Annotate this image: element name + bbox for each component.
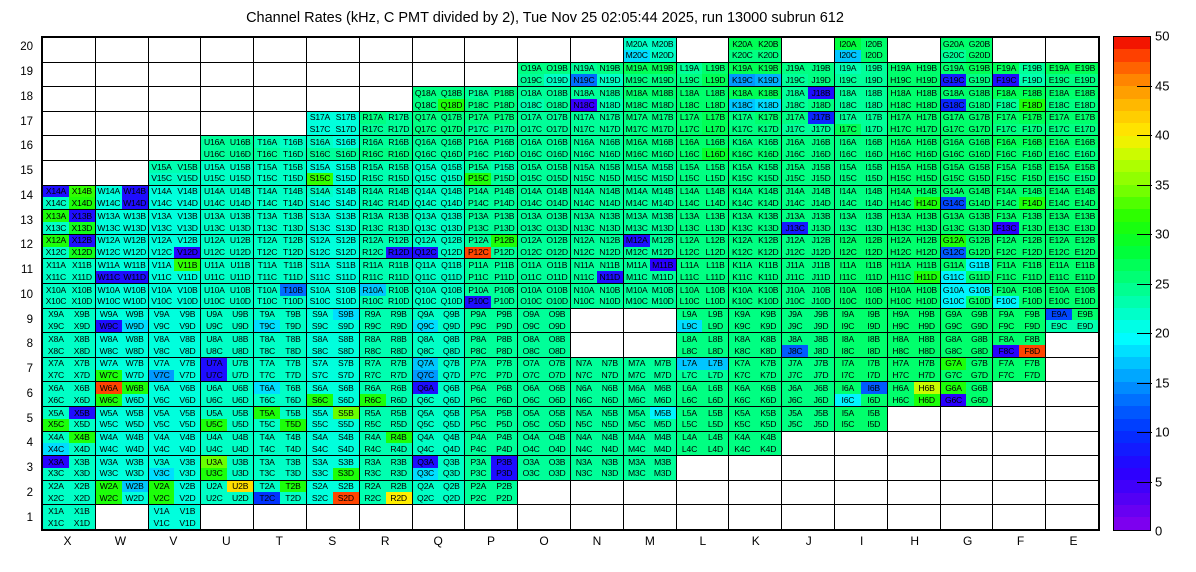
channel-Q7B[interactable]: Q7B [438, 358, 464, 370]
channel-O11B[interactable]: O11B [544, 259, 570, 271]
channel-J7A[interactable]: J7A [782, 358, 808, 370]
channel-J13C[interactable]: J13C [782, 222, 808, 234]
channel-S4D[interactable]: S4D [333, 443, 359, 455]
channel-I10A[interactable]: I10A [835, 284, 861, 296]
channel-W5B[interactable]: W5B [122, 407, 148, 419]
channel-S11C[interactable]: S11C [307, 271, 333, 283]
channel-E9C[interactable]: E9C [1046, 320, 1072, 332]
channel-Q9B[interactable]: Q9B [438, 309, 464, 321]
cell-T4[interactable]: T4AT4BT4CT4D [254, 431, 307, 456]
channel-G6A[interactable]: G6A [941, 382, 967, 394]
cell-U3[interactable]: U3AU3BU3CU3D [201, 456, 254, 481]
channel-P5B[interactable]: P5B [491, 407, 517, 419]
channel-L9B[interactable]: L9B [702, 309, 728, 321]
channel-U10B[interactable]: U10B [227, 284, 253, 296]
channel-T16D[interactable]: T16D [280, 148, 306, 160]
channel-P7A[interactable]: P7A [465, 358, 491, 370]
channel-M6B[interactable]: M6B [650, 382, 676, 394]
channel-N19C[interactable]: N19C [571, 74, 597, 86]
cell-K20[interactable]: K20AK20BK20CK20D [729, 38, 782, 63]
cell-F7[interactable]: F7AF7BF7CF7D [993, 357, 1046, 382]
channel-Q17D[interactable]: Q17D [438, 124, 464, 136]
channel-J10B[interactable]: J10B [808, 284, 834, 296]
channel-S8D[interactable]: S8D [333, 345, 359, 357]
channel-T9D[interactable]: T9D [280, 320, 306, 332]
channel-M4A[interactable]: M4A [624, 432, 650, 444]
channel-G19C[interactable]: G19C [941, 74, 967, 86]
channel-N18C[interactable]: N18C [571, 99, 597, 111]
cell-K10[interactable]: K10AK10BK10CK10D [729, 283, 782, 308]
channel-E17B[interactable]: E17B [1072, 112, 1098, 124]
cell-P18[interactable]: P18AP18BP18CP18D [465, 87, 518, 112]
channel-G9B[interactable]: G9B [966, 309, 992, 321]
channel-L13C[interactable]: L13C [677, 222, 703, 234]
channel-P6D[interactable]: P6D [491, 394, 517, 406]
channel-T6D[interactable]: T6D [280, 394, 306, 406]
channel-P16D[interactable]: P16D [491, 148, 517, 160]
channel-O7B[interactable]: O7B [544, 358, 570, 370]
cell-L16[interactable]: L16AL16BL16CL16D [676, 136, 729, 161]
channel-O18C[interactable]: O18C [518, 99, 544, 111]
cell-W14[interactable]: W14AW14BW14CW14D [95, 185, 148, 210]
channel-J18D[interactable]: J18D [808, 99, 834, 111]
channel-P11A[interactable]: P11A [465, 259, 491, 271]
channel-O6B[interactable]: O6B [544, 382, 570, 394]
channel-P2A[interactable]: P2A [465, 481, 491, 493]
channel-V6C[interactable]: V6C [149, 394, 175, 406]
cell-T8[interactable]: T8AT8BT8CT8D [254, 333, 307, 358]
channel-H9C[interactable]: H9C [888, 320, 914, 332]
channel-S7A[interactable]: S7A [307, 358, 333, 370]
channel-M5D[interactable]: M5D [650, 419, 676, 431]
channel-I20D[interactable]: I20D [861, 50, 887, 62]
channel-K5B[interactable]: K5B [755, 407, 781, 419]
channel-L19D[interactable]: L19D [702, 74, 728, 86]
channel-X6C[interactable]: X6C [43, 394, 69, 406]
cell-I20[interactable]: I20AI20BI20CI20D [834, 38, 887, 63]
channel-U11B[interactable]: U11B [227, 259, 253, 271]
channel-U6D[interactable]: U6D [227, 394, 253, 406]
cell-G17[interactable]: G17AG17BG17CG17D [940, 111, 993, 136]
channel-S2B[interactable]: S2B [333, 481, 359, 493]
channel-F17B[interactable]: F17B [1019, 112, 1045, 124]
channel-N5A[interactable]: N5A [571, 407, 597, 419]
channel-N7C[interactable]: N7C [571, 370, 597, 382]
cell-L10[interactable]: L10AL10BL10CL10D [676, 283, 729, 308]
channel-R10C[interactable]: R10C [360, 296, 386, 308]
channel-J18A[interactable]: J18A [782, 87, 808, 99]
cell-S14[interactable]: S14AS14BS14CS14D [306, 185, 359, 210]
channel-V11A[interactable]: V11A [149, 259, 175, 271]
channel-X5B[interactable]: X5B [69, 407, 95, 419]
cell-J16[interactable]: J16AJ16BJ16CJ16D [782, 136, 835, 161]
channel-J10D[interactable]: J10D [808, 296, 834, 308]
channel-E9A[interactable]: E9A [1046, 309, 1072, 321]
channel-L11B[interactable]: L11B [702, 259, 728, 271]
cell-V3[interactable]: V3AV3BV3CV3D [148, 456, 201, 481]
channel-X8C[interactable]: X8C [43, 345, 69, 357]
channel-L5C[interactable]: L5C [677, 419, 703, 431]
channel-V13D[interactable]: V13D [174, 222, 200, 234]
channel-W13A[interactable]: W13A [96, 210, 122, 222]
channel-T5D[interactable]: T5D [280, 419, 306, 431]
channel-X4B[interactable]: X4B [69, 432, 95, 444]
channel-X11C[interactable]: X11C [43, 271, 69, 283]
channel-N15A[interactable]: N15A [571, 161, 597, 173]
channel-Q14D[interactable]: Q14D [438, 197, 464, 209]
channel-F19D[interactable]: F19D [1019, 74, 1045, 86]
channel-F14A[interactable]: F14A [993, 186, 1019, 198]
cell-H19[interactable]: H19AH19BH19CH19D [887, 62, 940, 87]
channel-T11C[interactable]: T11C [254, 271, 280, 283]
channel-X12B[interactable]: X12B [69, 235, 95, 247]
channel-I12B[interactable]: I12B [861, 235, 887, 247]
channel-U16D[interactable]: U16D [227, 148, 253, 160]
channel-H15A[interactable]: H15A [888, 161, 914, 173]
channel-M6A[interactable]: M6A [624, 382, 650, 394]
channel-R13C[interactable]: R13C [360, 222, 386, 234]
channel-W14C[interactable]: W14C [96, 197, 122, 209]
channel-Q7C[interactable]: Q7C [413, 370, 439, 382]
channel-F8B[interactable]: F8B [1019, 333, 1045, 345]
channel-J17C[interactable]: J17C [782, 124, 808, 136]
channel-O9B[interactable]: O9B [544, 309, 570, 321]
channel-K13D[interactable]: K13D [755, 222, 781, 234]
channel-V6A[interactable]: V6A [149, 382, 175, 394]
channel-P12A[interactable]: P12A [465, 235, 491, 247]
channel-H12C[interactable]: H12C [888, 247, 914, 259]
channel-P6C[interactable]: P6C [465, 394, 491, 406]
channel-F15B[interactable]: F15B [1019, 161, 1045, 173]
channel-E18B[interactable]: E18B [1072, 87, 1098, 99]
channel-H19D[interactable]: H19D [914, 74, 940, 86]
channel-I6B[interactable]: I6B [861, 382, 887, 394]
channel-J14D[interactable]: J14D [808, 197, 834, 209]
channel-V4C[interactable]: V4C [149, 443, 175, 455]
channel-T13C[interactable]: T13C [254, 222, 280, 234]
cell-Q2[interactable]: Q2AQ2BQ2CQ2D [412, 480, 465, 505]
channel-K10A[interactable]: K10A [729, 284, 755, 296]
channel-R12D[interactable]: R12D [386, 247, 412, 259]
channel-M18A[interactable]: M18A [624, 87, 650, 99]
channel-R7D[interactable]: R7D [386, 370, 412, 382]
channel-T10D[interactable]: T10D [280, 296, 306, 308]
channel-G9A[interactable]: G9A [941, 309, 967, 321]
channel-U4B[interactable]: U4B [227, 432, 253, 444]
channel-R12C[interactable]: R12C [360, 247, 386, 259]
cell-V10[interactable]: V10AV10BV10CV10D [148, 283, 201, 308]
channel-J17D[interactable]: J17D [808, 124, 834, 136]
channel-P2B[interactable]: P2B [491, 481, 517, 493]
channel-U8A[interactable]: U8A [201, 333, 227, 345]
channel-K11D[interactable]: K11D [755, 271, 781, 283]
channel-I19A[interactable]: I19A [835, 63, 861, 75]
channel-V8D[interactable]: V8D [174, 345, 200, 357]
channel-V6B[interactable]: V6B [174, 382, 200, 394]
channel-O15D[interactable]: O15D [544, 173, 570, 185]
channel-N13B[interactable]: N13B [597, 210, 623, 222]
channel-V13C[interactable]: V13C [149, 222, 175, 234]
channel-J8D[interactable]: J8D [808, 345, 834, 357]
channel-S8B[interactable]: S8B [333, 333, 359, 345]
cell-N6[interactable]: N6AN6BN6CN6D [570, 382, 623, 407]
channel-S13D[interactable]: S13D [333, 222, 359, 234]
channel-P5C[interactable]: P5C [465, 419, 491, 431]
channel-F9A[interactable]: F9A [993, 309, 1019, 321]
channel-V5D[interactable]: V5D [174, 419, 200, 431]
channel-H13D[interactable]: H13D [914, 222, 940, 234]
channel-I18C[interactable]: I18C [835, 99, 861, 111]
channel-F15A[interactable]: F15A [993, 161, 1019, 173]
cell-W5[interactable]: W5AW5BW5CW5D [95, 406, 148, 431]
cell-W13[interactable]: W13AW13BW13CW13D [95, 210, 148, 235]
channel-S16A[interactable]: S16A [307, 136, 333, 148]
channel-Q6B[interactable]: Q6B [438, 382, 464, 394]
cell-V4[interactable]: V4AV4BV4CV4D [148, 431, 201, 456]
cell-H9[interactable]: H9AH9BH9CH9D [887, 308, 940, 333]
channel-E17C[interactable]: E17C [1046, 124, 1072, 136]
cell-F11[interactable]: F11AF11BF11CF11D [993, 259, 1046, 284]
channel-F8D[interactable]: F8D [1019, 345, 1045, 357]
channel-L4D[interactable]: L4D [702, 443, 728, 455]
channel-W6A[interactable]: W6A [96, 382, 122, 394]
cell-W10[interactable]: W10AW10BW10CW10D [95, 283, 148, 308]
channel-K9D[interactable]: K9D [755, 320, 781, 332]
channel-U9A[interactable]: U9A [201, 309, 227, 321]
channel-G14B[interactable]: G14B [966, 186, 992, 198]
channel-E17D[interactable]: E17D [1072, 124, 1098, 136]
cell-H17[interactable]: H17AH17BH17CH17D [887, 111, 940, 136]
channel-Q10D[interactable]: Q10D [438, 296, 464, 308]
channel-F8C[interactable]: F8C [993, 345, 1019, 357]
cell-R16[interactable]: R16AR16BR16CR16D [359, 136, 412, 161]
channel-X6D[interactable]: X6D [69, 394, 95, 406]
channel-M19B[interactable]: M19B [650, 63, 676, 75]
cell-M16[interactable]: M16AM16BM16CM16D [623, 136, 676, 161]
cell-R10[interactable]: R10AR10BR10CR10D [359, 283, 412, 308]
channel-I13D[interactable]: I13D [861, 222, 887, 234]
channel-O17D[interactable]: O17D [544, 124, 570, 136]
channel-O12C[interactable]: O12C [518, 247, 544, 259]
channel-R4D[interactable]: R4D [386, 443, 412, 455]
channel-R17A[interactable]: R17A [360, 112, 386, 124]
channel-T3A[interactable]: T3A [254, 456, 280, 468]
channel-O17B[interactable]: O17B [544, 112, 570, 124]
channel-H10D[interactable]: H10D [914, 296, 940, 308]
cell-M11[interactable]: M11AM11BM11CM11D [623, 259, 676, 284]
channel-V10A[interactable]: V10A [149, 284, 175, 296]
cell-E12[interactable]: E12AE12BE12CE12D [1046, 234, 1099, 259]
channel-O19C[interactable]: O19C [518, 74, 544, 86]
channel-W8A[interactable]: W8A [96, 333, 122, 345]
channel-R7C[interactable]: R7C [360, 370, 386, 382]
channel-X14D[interactable]: X14D [69, 197, 95, 209]
channel-U6B[interactable]: U6B [227, 382, 253, 394]
channel-H16A[interactable]: H16A [888, 136, 914, 148]
channel-G13A[interactable]: G13A [941, 210, 967, 222]
channel-O4C[interactable]: O4C [518, 443, 544, 455]
channel-W3C[interactable]: W3C [96, 468, 122, 480]
cell-O13[interactable]: O13AO13BO13CO13D [518, 210, 571, 235]
channel-I14A[interactable]: I14A [835, 186, 861, 198]
channel-Q3A[interactable]: Q3A [413, 456, 439, 468]
cell-S4[interactable]: S4AS4BS4CS4D [306, 431, 359, 456]
channel-S5C[interactable]: S5C [307, 419, 333, 431]
channel-J7C[interactable]: J7C [782, 370, 808, 382]
channel-O8A[interactable]: O8A [518, 333, 544, 345]
channel-G14C[interactable]: G14C [941, 197, 967, 209]
channel-Q3D[interactable]: Q3D [438, 468, 464, 480]
channel-W9C[interactable]: W9C [96, 320, 122, 332]
cell-L12[interactable]: L12AL12BL12CL12D [676, 234, 729, 259]
channel-W9D[interactable]: W9D [122, 320, 148, 332]
channel-E14A[interactable]: E14A [1046, 186, 1072, 198]
channel-Q9D[interactable]: Q9D [438, 320, 464, 332]
channel-Q9C[interactable]: Q9C [413, 320, 439, 332]
channel-P4B[interactable]: P4B [491, 432, 517, 444]
channel-U7C[interactable]: U7C [201, 370, 227, 382]
channel-M6C[interactable]: M6C [624, 394, 650, 406]
channel-S17D[interactable]: S17D [333, 124, 359, 136]
channel-F14C[interactable]: F14C [993, 197, 1019, 209]
channel-W6D[interactable]: W6D [122, 394, 148, 406]
channel-K16B[interactable]: K16B [755, 136, 781, 148]
channel-V8B[interactable]: V8B [174, 333, 200, 345]
channel-J8C[interactable]: J8C [782, 345, 808, 357]
channel-K20B[interactable]: K20B [755, 38, 781, 50]
channel-O12A[interactable]: O12A [518, 235, 544, 247]
channel-J6A[interactable]: J6A [782, 382, 808, 394]
channel-G18A[interactable]: G18A [941, 87, 967, 99]
cell-F13[interactable]: F13AF13BF13CF13D [993, 210, 1046, 235]
channel-M7A[interactable]: M7A [624, 358, 650, 370]
channel-F16A[interactable]: F16A [993, 136, 1019, 148]
channel-U8B[interactable]: U8B [227, 333, 253, 345]
channel-S2C[interactable]: S2C [307, 492, 333, 504]
cell-V12[interactable]: V12AV12BV12CV12D [148, 234, 201, 259]
channel-G10A[interactable]: G10A [941, 284, 967, 296]
channel-I5B[interactable]: I5B [861, 407, 887, 419]
channel-N16A[interactable]: N16A [571, 136, 597, 148]
channel-O5C[interactable]: O5C [518, 419, 544, 431]
channel-I6D[interactable]: I6D [861, 394, 887, 406]
channel-I8D[interactable]: I8D [861, 345, 887, 357]
channel-T12D[interactable]: T12D [280, 247, 306, 259]
cell-P17[interactable]: P17AP17BP17CP17D [465, 111, 518, 136]
cell-K19[interactable]: K19AK19BK19CK19D [729, 62, 782, 87]
cell-M15[interactable]: M15AM15BM15CM15D [623, 160, 676, 185]
channel-E10C[interactable]: E10C [1046, 296, 1072, 308]
channel-Q12B[interactable]: Q12B [438, 235, 464, 247]
channel-G19D[interactable]: G19D [966, 74, 992, 86]
channel-F16D[interactable]: F16D [1019, 148, 1045, 160]
channel-E12B[interactable]: E12B [1072, 235, 1098, 247]
cell-S5[interactable]: S5AS5BS5CS5D [306, 406, 359, 431]
cell-M6[interactable]: M6AM6BM6CM6D [623, 382, 676, 407]
channel-P18B[interactable]: P18B [491, 87, 517, 99]
cell-V15[interactable]: V15AV15BV15CV15D [148, 160, 201, 185]
cell-H10[interactable]: H10AH10BH10CH10D [887, 283, 940, 308]
channel-S12A[interactable]: S12A [307, 235, 333, 247]
channel-E9D[interactable]: E9D [1072, 320, 1098, 332]
channel-U10D[interactable]: U10D [227, 296, 253, 308]
channel-P8A[interactable]: P8A [465, 333, 491, 345]
channel-R8A[interactable]: R8A [360, 333, 386, 345]
channel-T2B[interactable]: T2B [280, 481, 306, 493]
channel-F17D[interactable]: F17D [1019, 124, 1045, 136]
channel-J10A[interactable]: J10A [782, 284, 808, 296]
channel-L17D[interactable]: L17D [702, 124, 728, 136]
channel-V15D[interactable]: V15D [174, 173, 200, 185]
channel-H9B[interactable]: H9B [914, 309, 940, 321]
cell-E13[interactable]: E13AE13BE13CE13D [1046, 210, 1099, 235]
channel-W7D[interactable]: W7D [122, 370, 148, 382]
channel-O6A[interactable]: O6A [518, 382, 544, 394]
channel-K4D[interactable]: K4D [755, 443, 781, 455]
channel-S14C[interactable]: S14C [307, 197, 333, 209]
channel-V2A[interactable]: V2A [149, 481, 175, 493]
channel-H14C[interactable]: H14C [888, 197, 914, 209]
cell-L11[interactable]: L11AL11BL11CL11D [676, 259, 729, 284]
cell-E14[interactable]: E14AE14BE14CE14D [1046, 185, 1099, 210]
channel-T11B[interactable]: T11B [280, 259, 306, 271]
cell-X5[interactable]: X5AX5BX5CX5D [43, 406, 96, 431]
channel-I6A[interactable]: I6A [835, 382, 861, 394]
channel-M3D[interactable]: M3D [650, 468, 676, 480]
channel-S12C[interactable]: S12C [307, 247, 333, 259]
channel-R17D[interactable]: R17D [386, 124, 412, 136]
channel-T16A[interactable]: T16A [254, 136, 280, 148]
channel-W10B[interactable]: W10B [122, 284, 148, 296]
channel-X6A[interactable]: X6A [43, 382, 69, 394]
channel-W12C[interactable]: W12C [96, 247, 122, 259]
channel-G8A[interactable]: G8A [941, 333, 967, 345]
channel-H11A[interactable]: H11A [888, 259, 914, 271]
cell-L19[interactable]: L19AL19BL19CL19D [676, 62, 729, 87]
channel-V12A[interactable]: V12A [149, 235, 175, 247]
channel-H15B[interactable]: H15B [914, 161, 940, 173]
cell-I9[interactable]: I9AI9BI9CI9D [834, 308, 887, 333]
channel-E12D[interactable]: E12D [1072, 247, 1098, 259]
channel-V2C[interactable]: V2C [149, 492, 175, 504]
cell-J17[interactable]: J17AJ17BJ17CJ17D [782, 111, 835, 136]
channel-K10B[interactable]: K10B [755, 284, 781, 296]
channel-L6B[interactable]: L6B [702, 382, 728, 394]
channel-T13B[interactable]: T13B [280, 210, 306, 222]
channel-N18A[interactable]: N18A [571, 87, 597, 99]
channel-M13C[interactable]: M13C [624, 222, 650, 234]
channel-L5A[interactable]: L5A [677, 407, 703, 419]
cell-L15[interactable]: L15AL15BL15CL15D [676, 160, 729, 185]
channel-Q2B[interactable]: Q2B [438, 481, 464, 493]
channel-Q18D[interactable]: Q18D [438, 99, 464, 111]
channel-H18D[interactable]: H18D [914, 99, 940, 111]
channel-S11B[interactable]: S11B [333, 259, 359, 271]
channel-O13A[interactable]: O13A [518, 210, 544, 222]
channel-K19C[interactable]: K19C [729, 74, 755, 86]
channel-G17B[interactable]: G17B [966, 112, 992, 124]
channel-J19A[interactable]: J19A [782, 63, 808, 75]
channel-H18A[interactable]: H18A [888, 87, 914, 99]
channel-P14D[interactable]: P14D [491, 197, 517, 209]
channel-V12B[interactable]: V12B [174, 235, 200, 247]
channel-U10A[interactable]: U10A [201, 284, 227, 296]
channel-H8D[interactable]: H8D [914, 345, 940, 357]
cell-S9[interactable]: S9AS9BS9CS9D [306, 308, 359, 333]
channel-V9C[interactable]: V9C [149, 320, 175, 332]
channel-L17A[interactable]: L17A [677, 112, 703, 124]
channel-R15A[interactable]: R15A [360, 161, 386, 173]
